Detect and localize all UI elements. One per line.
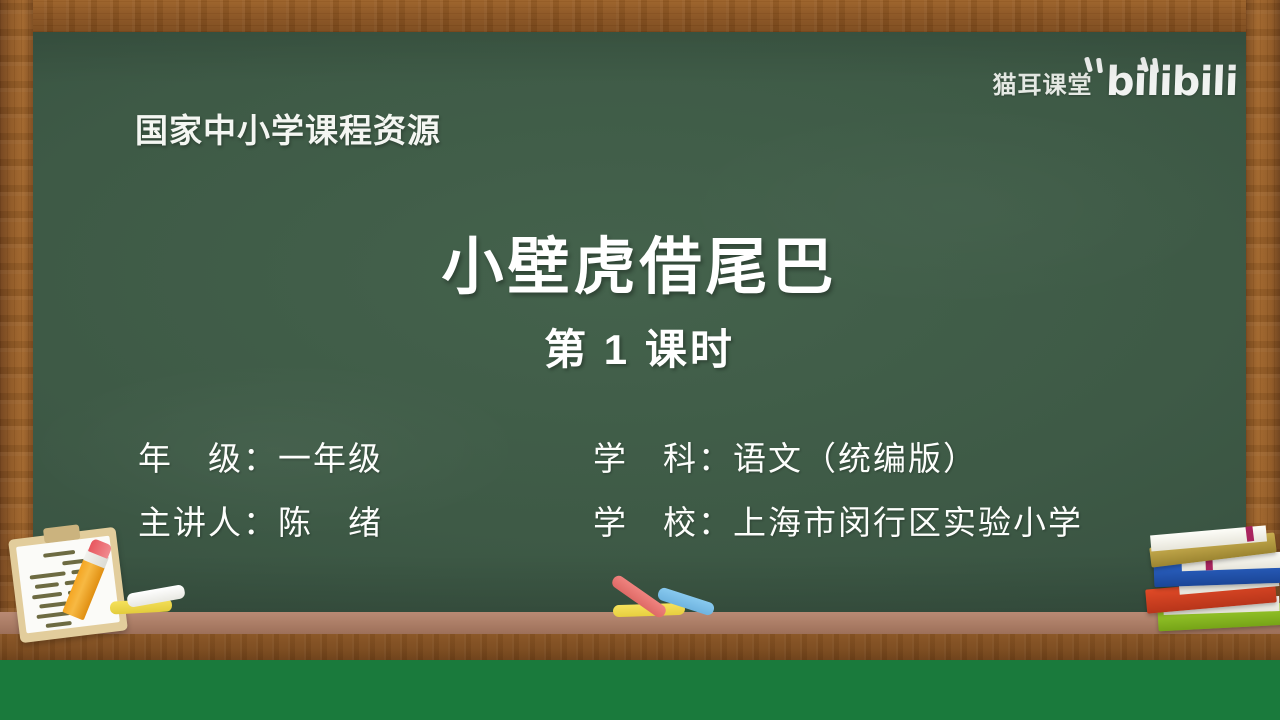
- book-stack-icon: [1146, 528, 1280, 640]
- meta-grade-label: 年 级：: [138, 442, 278, 478]
- platform-title: 国家中小学课程资源: [135, 104, 441, 152]
- lesson-meta: 年 级：一年级 学 科：语文（统编版） 主讲人：陈 绪 学 校：上海市闵行区实验…: [138, 432, 1138, 560]
- watermark-channel-label: 猫耳课堂: [992, 65, 1092, 100]
- chalk-ledge-front: [0, 634, 1280, 660]
- bilibili-ears-icon: [1080, 57, 1200, 73]
- frame-right: [1246, 0, 1280, 612]
- watermark: 猫耳课堂 bilibili: [992, 62, 1220, 102]
- meta-cell-grade: 年 级：一年级: [138, 432, 593, 480]
- meta-row: 主讲人：陈 绪 学 校：上海市闵行区实验小学: [138, 496, 1138, 544]
- bottom-green-band: [0, 658, 1280, 720]
- meta-cell-school: 学 校：上海市闵行区实验小学: [593, 496, 1083, 544]
- meta-school-label: 学 校：: [593, 506, 733, 542]
- frame-left: [0, 0, 33, 612]
- meta-cell-teacher: 主讲人：陈 绪: [138, 496, 593, 544]
- clipboard-icon: [8, 527, 128, 643]
- meta-teacher-value: 陈 绪: [278, 506, 383, 542]
- meta-subject-label: 学 科：: [593, 442, 733, 478]
- meta-subject-value: 语文（统编版）: [733, 442, 978, 478]
- frame-top: [0, 0, 1280, 32]
- meta-school-value: 上海市闵行区实验小学: [733, 506, 1083, 542]
- lesson-title: 小壁虎借尾巴: [33, 216, 1246, 306]
- chalkboard-surface: 国家中小学课程资源 猫耳课堂 bilibili 小壁虎借尾巴 第 1 课时 年 …: [33, 32, 1246, 612]
- meta-cell-subject: 学 科：语文（统编版）: [593, 432, 978, 480]
- lesson-period: 第 1 课时: [33, 316, 1246, 377]
- meta-teacher-label: 主讲人：: [138, 506, 278, 542]
- lesson-title-slide: 国家中小学课程资源 猫耳课堂 bilibili 小壁虎借尾巴 第 1 课时 年 …: [0, 0, 1280, 720]
- meta-grade-value: 一年级: [278, 442, 383, 478]
- meta-row: 年 级：一年级 学 科：语文（统编版）: [138, 432, 1138, 480]
